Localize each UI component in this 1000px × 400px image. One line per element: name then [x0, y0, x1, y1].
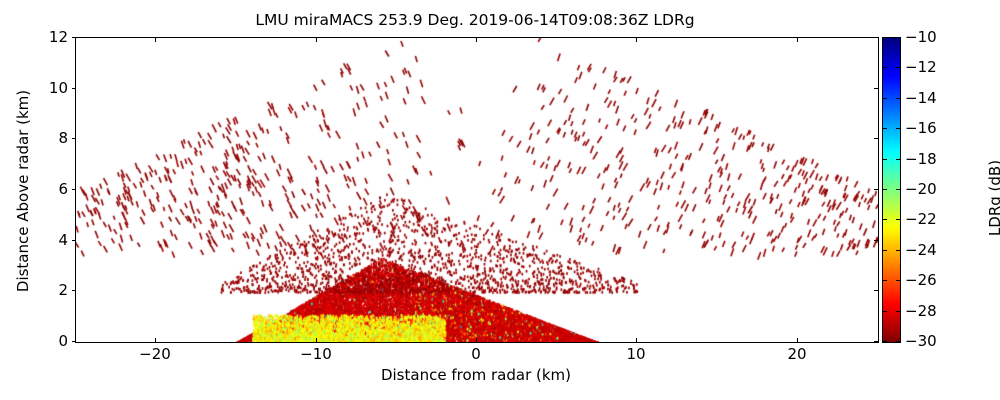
x-tick-label: 20: [787, 345, 806, 363]
colorbar-tick: [896, 98, 900, 99]
x-tick: [476, 338, 477, 342]
colorbar-tick-label: −26: [905, 271, 937, 289]
colorbar-tick-label: −12: [905, 58, 937, 76]
colorbar-tick-left: [883, 189, 887, 190]
colorbar-tick-label: −28: [905, 302, 937, 320]
y-tick: [72, 290, 76, 291]
colorbar-tick-label: −20: [905, 180, 937, 198]
colorbar-label: LDRg (dB): [986, 83, 1000, 313]
colorbar-tick: [896, 189, 900, 190]
x-tick-top: [316, 38, 317, 42]
x-tick-label: −20: [139, 345, 171, 363]
x-tick-top: [797, 38, 798, 42]
colorbar-tick: [896, 128, 900, 129]
y-tick-right: [874, 341, 878, 342]
colorbar-tick-left: [883, 250, 887, 251]
colorbar-tick-left: [883, 280, 887, 281]
colorbar-tick-label: −22: [905, 210, 937, 228]
colorbar: [882, 37, 901, 343]
colorbar-tick-label: −10: [905, 28, 937, 46]
y-axis-label: Distance Above radar (km): [14, 31, 32, 351]
colorbar-tick-left: [883, 159, 887, 160]
page-title: LMU miraMACS 253.9 Deg. 2019-06-14T09:08…: [0, 11, 950, 29]
x-axis-label: Distance from radar (km): [75, 366, 877, 384]
colorbar-tick-label: −18: [905, 150, 937, 168]
colorbar-tick: [896, 159, 900, 160]
colorbar-tick: [896, 67, 900, 68]
x-tick-label: 10: [626, 345, 645, 363]
x-tick: [636, 338, 637, 342]
y-tick-right: [874, 37, 878, 38]
y-tick-right: [874, 290, 878, 291]
colorbar-tick: [896, 37, 900, 38]
colorbar-tick: [896, 311, 900, 312]
colorbar-tick-label: −14: [905, 89, 937, 107]
colorbar-tick-left: [883, 67, 887, 68]
x-tick-label: −10: [300, 345, 332, 363]
colorbar-tick-left: [883, 128, 887, 129]
x-tick-top: [155, 38, 156, 42]
colorbar-tick-left: [883, 219, 887, 220]
colorbar-tick: [896, 250, 900, 251]
x-tick-label: 0: [471, 345, 481, 363]
x-tick-top: [476, 38, 477, 42]
y-tick: [72, 240, 76, 241]
colorbar-tick-left: [883, 98, 887, 99]
y-tick-right: [874, 240, 878, 241]
x-tick: [316, 338, 317, 342]
colorbar-tick-label: −24: [905, 241, 937, 259]
y-tick: [72, 37, 76, 38]
y-tick: [72, 341, 76, 342]
colorbar-tick-label: −16: [905, 119, 937, 137]
figure-canvas: LMU miraMACS 253.9 Deg. 2019-06-14T09:08…: [0, 0, 1000, 400]
scatter-plot: [76, 38, 878, 342]
colorbar-tick-left: [883, 37, 887, 38]
y-tick-right: [874, 189, 878, 190]
x-tick: [797, 338, 798, 342]
y-tick-right: [874, 138, 878, 139]
colorbar-tick: [896, 219, 900, 220]
colorbar-tick-label: −30: [905, 332, 937, 350]
x-tick: [155, 338, 156, 342]
colorbar-gradient: [883, 38, 900, 342]
x-tick-top: [636, 38, 637, 42]
plot-area: [75, 37, 879, 343]
colorbar-tick: [896, 280, 900, 281]
y-tick: [72, 88, 76, 89]
colorbar-tick: [896, 341, 900, 342]
y-tick: [72, 189, 76, 190]
colorbar-tick-left: [883, 311, 887, 312]
y-tick: [72, 138, 76, 139]
y-tick-right: [874, 88, 878, 89]
colorbar-tick-left: [883, 341, 887, 342]
